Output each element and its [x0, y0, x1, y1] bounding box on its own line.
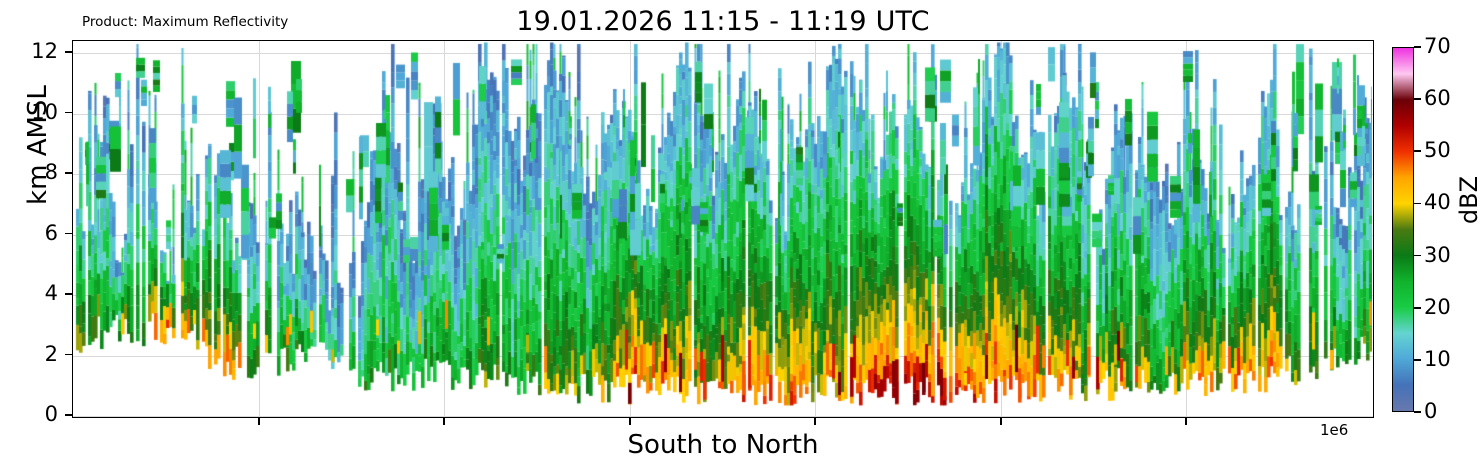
colorbar-tick — [1414, 255, 1421, 257]
colorbar-tick — [1414, 411, 1421, 413]
x-tick — [629, 418, 631, 425]
chart-title: 19.01.2026 11:15 - 11:19 UTC — [72, 6, 1374, 37]
x-tick — [443, 418, 445, 425]
colorbar-tick-label: 60 — [1424, 88, 1451, 109]
plot-area — [72, 40, 1374, 418]
colorbar-tick-label: 70 — [1424, 36, 1451, 57]
x-tick — [1185, 418, 1187, 425]
y-tick — [65, 112, 72, 114]
colorbar-tick-label: 40 — [1424, 192, 1451, 213]
colorbar — [1392, 47, 1414, 412]
x-tick — [258, 418, 260, 425]
x-tick — [814, 418, 816, 425]
colorbar-tick — [1414, 359, 1421, 361]
y-tick-label: 4 — [12, 283, 58, 304]
colorbar-tick-label: 30 — [1424, 245, 1451, 266]
colorbar-tick-label: 50 — [1424, 140, 1451, 161]
colorbar-label: dBZ — [1455, 135, 1482, 265]
colorbar-tick — [1414, 150, 1421, 152]
y-axis-label: km AMSL — [23, 25, 53, 265]
y-tick-label: 2 — [12, 344, 58, 365]
y-tick — [65, 51, 72, 53]
y-tick-label: 0 — [12, 404, 58, 425]
x-axis-exponent: 1e6 — [1320, 421, 1348, 439]
reflectivity-heatmap — [73, 41, 1372, 416]
colorbar-tick — [1414, 98, 1421, 100]
colorbar-tick-label: 20 — [1424, 297, 1451, 318]
y-tick — [65, 293, 72, 295]
radar-cross-section-figure: Product: Maximum Reflectivity 19.01.2026… — [0, 0, 1482, 470]
y-tick — [65, 354, 72, 356]
colorbar-tick-label: 0 — [1424, 401, 1437, 422]
colorbar-tick — [1414, 307, 1421, 309]
colorbar-tick — [1414, 46, 1421, 48]
y-tick — [65, 233, 72, 235]
y-tick — [65, 172, 72, 174]
colorbar-tick — [1414, 203, 1421, 205]
y-tick — [65, 414, 72, 416]
colorbar-gradient — [1393, 48, 1413, 411]
colorbar-tick-label: 10 — [1424, 349, 1451, 370]
x-axis-label: South to North — [72, 430, 1374, 460]
x-tick — [1000, 418, 1002, 425]
